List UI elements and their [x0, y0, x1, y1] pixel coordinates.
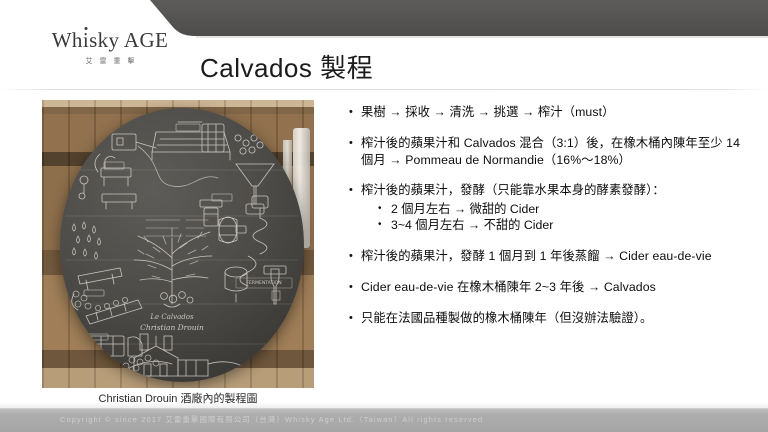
process-diagram-photo: Le Calvados Christian Drouin: [42, 100, 314, 388]
bullet-marker: •: [347, 135, 361, 152]
bullet-sub-marker: •: [378, 201, 391, 218]
bullet-sub-marker: •: [378, 217, 391, 234]
bullet-text: 榨汁後的蘋果汁，發酵（只能靠水果本身的酵素發酵）：: [361, 182, 755, 199]
brand-logo-subtitle: 艾雷重擊: [30, 56, 190, 66]
bullet-item: • 榨汁後的蘋果汁，發酵 1 個月到 1 年後蒸餾 → Cider eau-de…: [347, 248, 755, 265]
footer-bar: Copyright © since 2017 艾雷重擊國際有限公司（台灣）Whi…: [0, 408, 768, 432]
bullet-sub-text: 3~4 個月左右 → 不甜的 Cider: [391, 217, 755, 234]
board-script-label-2: Christian Drouin: [140, 323, 204, 332]
bullet-subitem: • 3~4 個月左右 → 不甜的 Cider: [361, 217, 755, 234]
chalkboard-disc: Le Calvados Christian Drouin: [60, 108, 304, 382]
bullet-text: 只能在法國品種製做的橡木桶陳年（但沒辦法驗證）。: [361, 310, 755, 327]
bullet-text: 榨汁後的蘋果汁和 Calvados 混合（3:1）後，在橡木桶內陳年至少 14 …: [361, 135, 755, 168]
bullet-marker: •: [347, 248, 361, 265]
bullet-item: • 果樹 → 採收 → 清洗 → 挑選 → 榨汁（must）: [347, 104, 755, 121]
bullet-text: 榨汁後的蘋果汁，發酵 1 個月到 1 年後蒸餾 → Cider eau-de-v…: [361, 248, 755, 265]
bullet-text: 果樹 → 採收 → 清洗 → 挑選 → 榨汁（must）: [361, 104, 755, 121]
bullet-marker: •: [347, 310, 361, 327]
page-title: Calvados 製程: [200, 48, 373, 85]
bullet-sublist: • 2 個月左右 → 微甜的 Cider • 3~4 個月左右 → 不甜的 Ci…: [361, 201, 755, 234]
board-script-label-1: Le Calvados: [149, 313, 194, 321]
copyright-text: Copyright © since 2017 艾雷重擊國際有限公司（台灣）Whi…: [60, 414, 483, 425]
brand-logo-wordmark-text: Whisky AGE: [52, 28, 169, 52]
bullet-sub-text: 2 個月左右 → 微甜的 Cider: [391, 201, 755, 218]
bullet-marker: •: [347, 182, 361, 199]
bullet-item: • Cider eau-de-vie 在橡木桶陳年 2~3 年後 → Calva…: [347, 279, 755, 296]
bullet-marker: •: [347, 279, 361, 296]
bullet-item: • 只能在法國品種製做的橡木桶陳年（但沒辦法驗證）。: [347, 310, 755, 327]
bullet-text: Cider eau-de-vie 在橡木桶陳年 2~3 年後 → Calvado…: [361, 279, 755, 296]
brand-logo: Whisky AGE 艾雷重擊: [30, 28, 190, 66]
bullet-subitem: • 2 個月左右 → 微甜的 Cider: [361, 201, 755, 218]
header-divider: [0, 89, 768, 90]
brand-logo-wordmark: Whisky AGE: [30, 28, 190, 53]
bullet-item: • 榨汁後的蘋果汁，發酵（只能靠水果本身的酵素發酵）： • 2 個月左右 → 微…: [347, 182, 755, 234]
bullet-list: • 果樹 → 採收 → 清洗 → 挑選 → 榨汁（must） • 榨汁後的蘋果汁…: [347, 104, 755, 327]
bullet-marker: •: [347, 104, 361, 121]
bullet-item: • 榨汁後的蘋果汁和 Calvados 混合（3:1）後，在橡木桶內陳年至少 1…: [347, 135, 755, 168]
